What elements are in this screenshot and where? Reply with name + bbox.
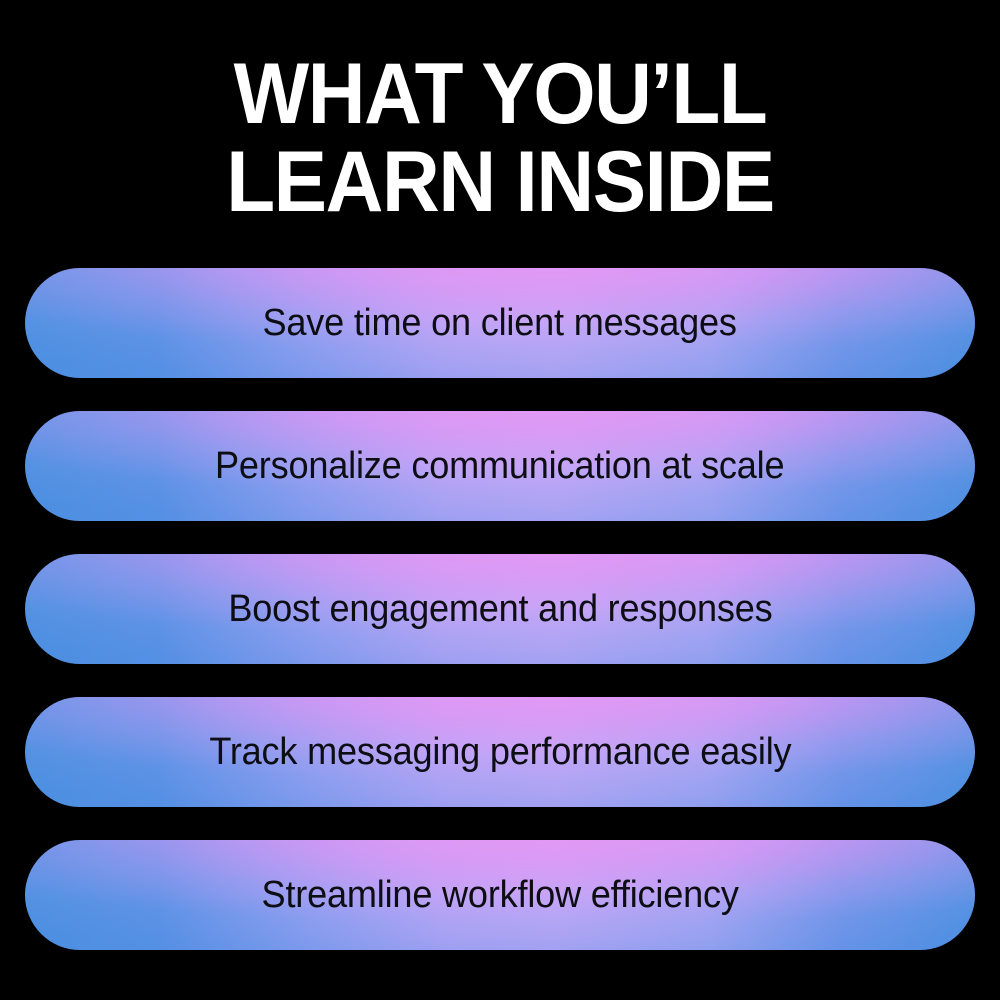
benefit-pill-4[interactable]: Track messaging performance easily — [25, 697, 975, 807]
page-title: WHAT YOU’LL LEARN INSIDE — [0, 50, 1000, 226]
benefit-pill-4-label: Track messaging performance easily — [209, 730, 791, 774]
benefit-pill-5-label: Streamline workflow efficiency — [261, 873, 738, 917]
slide-canvas: WHAT YOU’LL LEARN INSIDE Save time on cl… — [0, 0, 1000, 1000]
benefit-pill-2[interactable]: Personalize communication at scale — [25, 411, 975, 521]
benefit-pill-1-label: Save time on client messages — [263, 301, 737, 345]
benefit-pill-list: Save time on client messages Personalize… — [25, 268, 975, 950]
benefit-pill-2-label: Personalize communication at scale — [215, 444, 784, 488]
page-title-line-2: LEARN INSIDE — [35, 138, 965, 226]
benefit-pill-3-label: Boost engagement and responses — [228, 587, 772, 631]
benefit-pill-1[interactable]: Save time on client messages — [25, 268, 975, 378]
benefit-pill-5[interactable]: Streamline workflow efficiency — [25, 840, 975, 950]
benefit-pill-3[interactable]: Boost engagement and responses — [25, 554, 975, 664]
page-title-line-1: WHAT YOU’LL — [35, 50, 965, 138]
